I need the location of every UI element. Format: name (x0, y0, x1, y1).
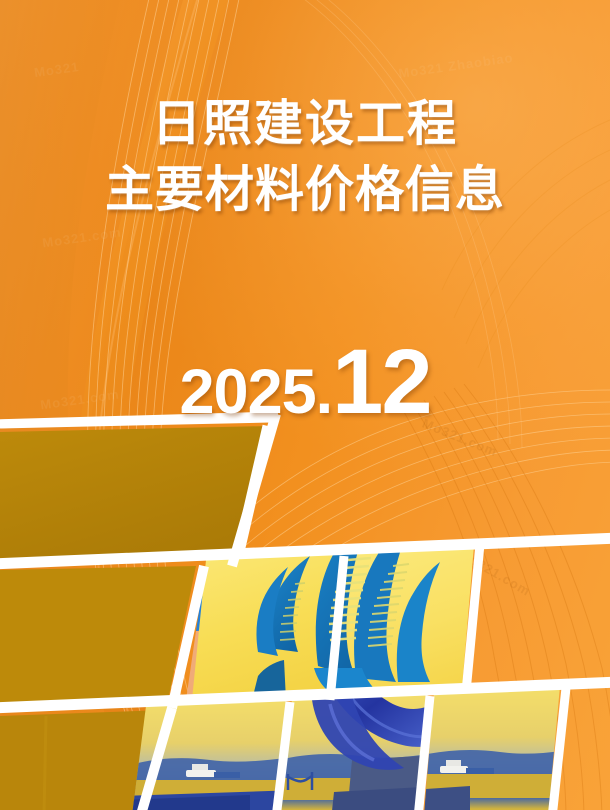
title-line-1: 日照建设工程 (0, 92, 610, 158)
cover-page: Mo321 Mo321.com Mo321.com Mo321 Zhaobiao… (0, 0, 610, 810)
date-year: 2025. (180, 357, 333, 427)
cover-title: 日照建设工程 主要材料价格信息 (0, 92, 610, 223)
title-line-2: 主要材料价格信息 (0, 158, 610, 224)
date-month: 12 (332, 331, 430, 433)
cover-date: 2025.12 (0, 330, 610, 435)
